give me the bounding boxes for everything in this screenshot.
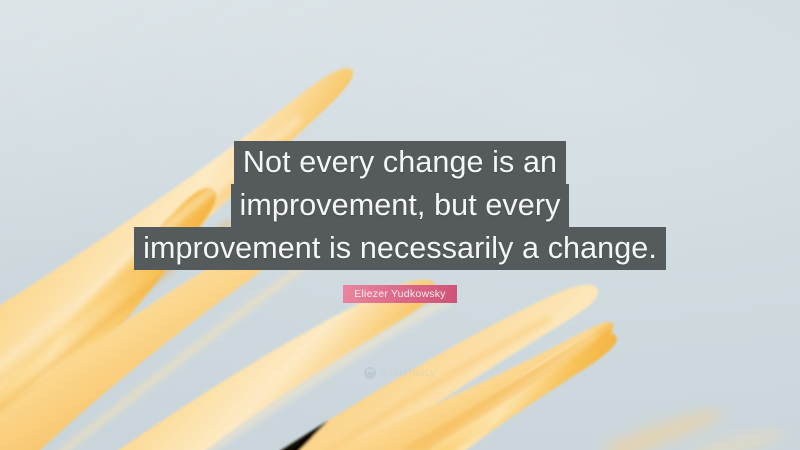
quote-line: Not every change is an bbox=[0, 141, 800, 184]
quote-line-1: Not every change is an bbox=[234, 141, 566, 184]
quote-text-block: Not every change is an improvement, but … bbox=[0, 141, 800, 270]
quote-line: improvement is necessarily a change. bbox=[0, 227, 800, 270]
quote-image-canvas: Not every change is an improvement, but … bbox=[0, 0, 800, 450]
quote-line-2: improvement, but every bbox=[231, 184, 570, 227]
author-name-badge[interactable]: Eliezer Yudkowsky bbox=[343, 285, 457, 303]
quote-line-3: improvement is necessarily a change. bbox=[134, 227, 666, 270]
author-attribution: Eliezer Yudkowsky bbox=[0, 284, 800, 303]
quote-line: improvement, but every bbox=[0, 184, 800, 227]
